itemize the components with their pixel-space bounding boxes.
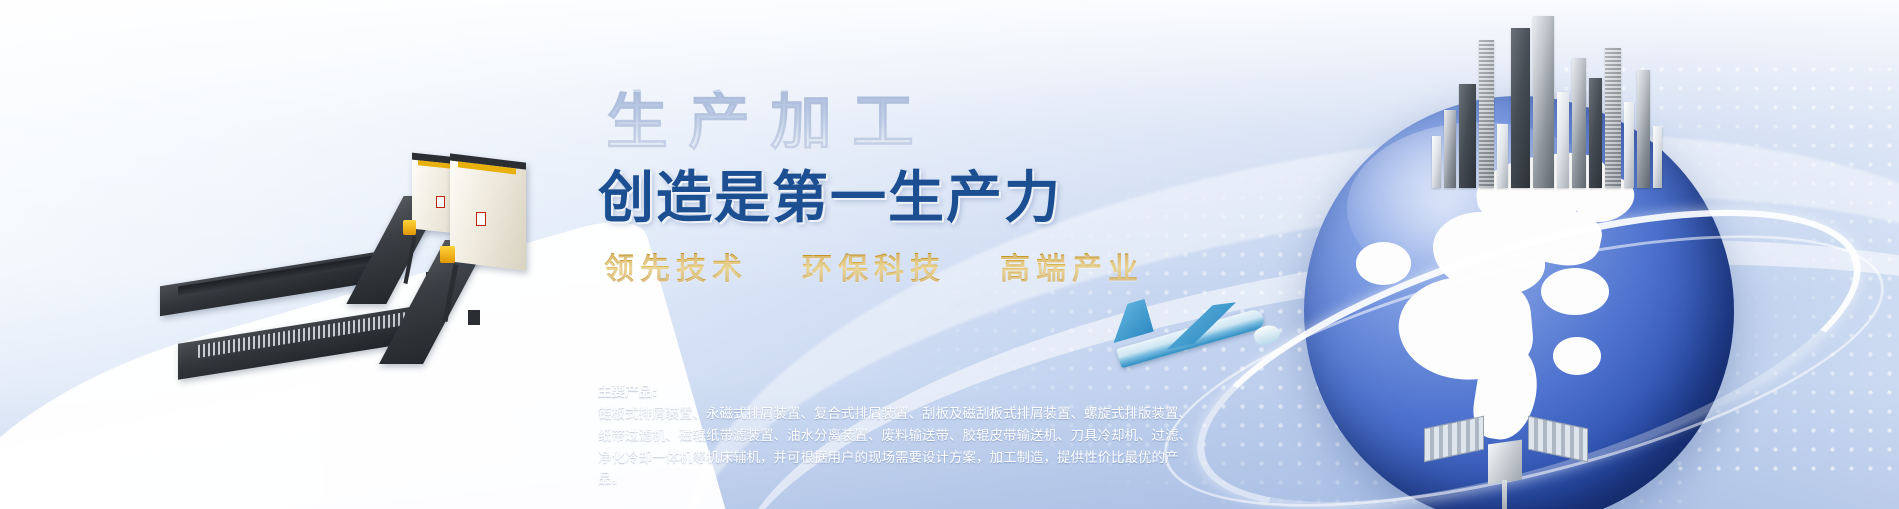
promo-banner: 生产加工 创造是第一生产力 领先技术 环保科技 高端产业 主要产品: 链板式排屑… bbox=[0, 0, 1899, 509]
product-list-title: 主要产品: bbox=[598, 382, 1198, 404]
slogan-row: 领先技术 环保科技 高端产业 bbox=[604, 244, 1298, 288]
warning-label-icon bbox=[476, 212, 486, 226]
building-icon bbox=[1444, 110, 1457, 188]
product-list-body: 链板式排屑装置、永磁式排屑装置、复合式排屑装置、刮板及磁刮板式排屑装置、螺旋式排… bbox=[598, 404, 1198, 491]
product-list-text: 主要产品: 链板式排屑装置、永磁式排屑装置、复合式排屑装置、刮板及磁刮板式排屑装… bbox=[598, 382, 1198, 491]
building-icon bbox=[1589, 78, 1602, 188]
building-icon bbox=[1624, 102, 1634, 188]
continent-shape bbox=[1356, 242, 1412, 285]
headline-secondary: 生产加工 bbox=[606, 92, 1298, 154]
warning-label-icon bbox=[436, 196, 445, 208]
city-skyline-illustration bbox=[1432, 8, 1662, 188]
cabinet-stripe bbox=[458, 161, 516, 174]
building-icon bbox=[1459, 84, 1475, 188]
conveyor-control-cabinet bbox=[450, 153, 526, 270]
building-icon bbox=[1557, 92, 1569, 188]
headline-primary: 创造是第一生产力 bbox=[598, 170, 1298, 226]
airplane-illustration bbox=[1104, 292, 1294, 378]
building-icon bbox=[1637, 70, 1651, 188]
building-icon bbox=[1533, 16, 1554, 188]
globe-illustration bbox=[1304, 96, 1734, 509]
satellite-body bbox=[1488, 440, 1522, 485]
conveyor-foot bbox=[468, 310, 480, 325]
building-icon bbox=[1511, 28, 1530, 188]
building-icon bbox=[1497, 124, 1508, 188]
building-icon bbox=[1653, 126, 1662, 188]
slogan-item-1: 领先技术 bbox=[604, 244, 748, 288]
headline-group: 生产加工 创造是第一生产力 领先技术 环保科技 高端产业 bbox=[598, 92, 1298, 288]
building-icon bbox=[1432, 136, 1441, 188]
slogan-item-3: 高端产业 bbox=[1000, 244, 1144, 288]
airplane-tail bbox=[1104, 299, 1154, 343]
building-icon bbox=[1479, 40, 1494, 188]
continent-shape bbox=[1553, 337, 1600, 376]
slogan-item-2: 环保科技 bbox=[802, 244, 946, 288]
building-icon bbox=[1605, 48, 1621, 188]
continent-shape bbox=[1541, 268, 1610, 315]
chip-conveyor-machines-photo bbox=[150, 128, 630, 388]
building-icon bbox=[1572, 58, 1586, 188]
satellite-illustration bbox=[1422, 396, 1592, 509]
yellow-actuator-box bbox=[403, 220, 416, 235]
yellow-actuator-box bbox=[440, 246, 455, 263]
satellite-mast bbox=[1502, 480, 1507, 509]
satellite-solar-panel bbox=[1424, 416, 1484, 463]
satellite-solar-panel bbox=[1528, 416, 1588, 463]
